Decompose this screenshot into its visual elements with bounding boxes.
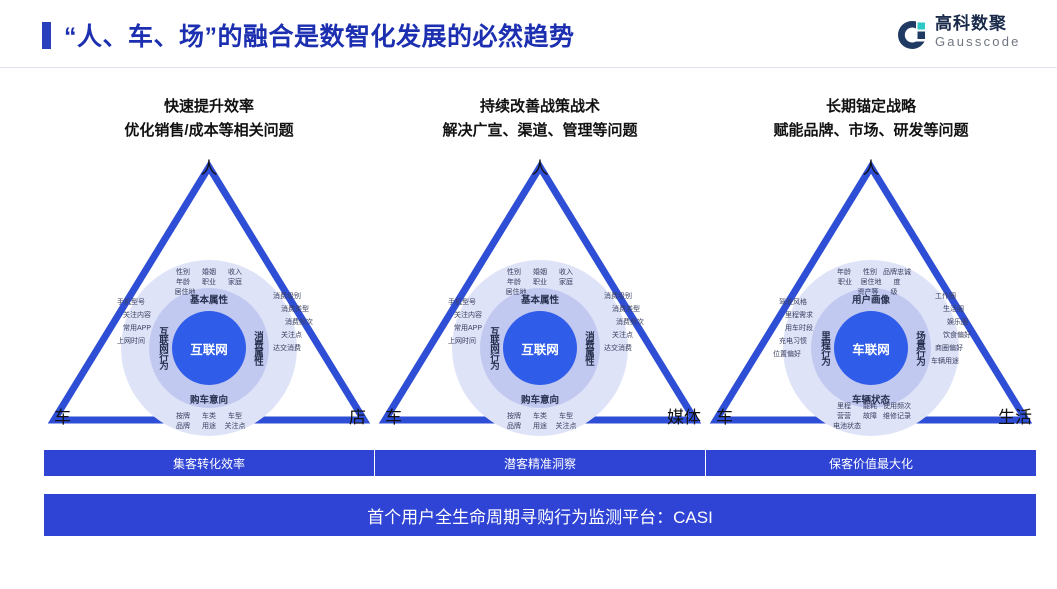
ring-label-bottom-2: 购车意向 bbox=[521, 392, 559, 406]
sat-item: 消费类型 bbox=[281, 303, 313, 316]
ring-label-left-3: 里程行为 bbox=[817, 331, 831, 365]
column-3-heading: 长期锚定战略 赋能品牌、市场、研发等问题 bbox=[706, 95, 1036, 143]
sat-item: 常用APP bbox=[448, 322, 482, 335]
column-1-rings: 互联网 互联网 基本属性 购车意向 互联网行为 消费属性 性别婚姻收入 年龄职业… bbox=[121, 260, 297, 436]
outcome-bar-3: 保客价值最大化 bbox=[706, 450, 1036, 476]
platform-banner: 首个用户全生命周期寻购行为监测平台：CASI bbox=[44, 494, 1036, 536]
triangle-3-right-label: 生活 bbox=[998, 408, 1032, 428]
sat-item: 按牌 bbox=[501, 412, 527, 422]
sat-item: 上网时间 bbox=[448, 335, 476, 348]
satellites-bottom-2: 按牌车类车型 品牌用途关注点 bbox=[501, 412, 579, 432]
gausscode-logo-icon bbox=[895, 18, 929, 52]
triangle-2-left-label: 车 bbox=[385, 408, 402, 428]
sat-item: 婚姻 bbox=[527, 268, 553, 278]
sat-item: 车类 bbox=[196, 412, 222, 422]
sat-item: 车型 bbox=[222, 412, 248, 422]
ring-label-left-2: 互联网行为 bbox=[486, 327, 500, 370]
sat-item: 手机型号 bbox=[448, 296, 476, 309]
sat-item: 消费频次 bbox=[285, 316, 313, 329]
triangle-1-left-label: 车 bbox=[54, 408, 71, 428]
sat-item: 车辆用途 bbox=[931, 355, 971, 368]
core-label-2: 互联网 bbox=[521, 339, 559, 358]
triangle-2-right-label: 媒体 bbox=[667, 408, 701, 428]
sat-item: 性别 bbox=[857, 268, 883, 278]
column-2-heading-line2: 解决广宣、渠道、管理等问题 bbox=[375, 119, 705, 143]
column-3-triangle-block: 人 车 生活 车联网 车联网 用户画像 车辆状态 里程行为 场景行为 年龄性别品… bbox=[706, 157, 1036, 432]
sat-item: 饮食偏好 bbox=[943, 329, 971, 342]
satellites-left-1: 手机型号 关注内容 常用APP 上网时间 bbox=[117, 296, 139, 348]
header-divider bbox=[0, 67, 1057, 68]
sat-item: 品牌忠诚 bbox=[883, 268, 911, 278]
sat-item: 消费级别 bbox=[273, 290, 313, 303]
satellites-left-2: 手机型号 关注内容 常用APP 上网时间 bbox=[448, 296, 470, 348]
sat-item: 居住地 bbox=[172, 288, 198, 298]
sat-item: 消费类型 bbox=[612, 303, 644, 316]
sat-item: 年龄 bbox=[501, 278, 527, 288]
ring-core-3: 车联网 bbox=[834, 311, 908, 385]
sat-item: 婚姻 bbox=[196, 268, 222, 278]
column-2-heading-line1: 持续改善战策战术 bbox=[480, 98, 600, 115]
sat-item: 营营 bbox=[831, 412, 857, 422]
sat-item: 职业 bbox=[832, 278, 858, 288]
core-label-1: 互联网 bbox=[190, 339, 228, 358]
sat-item: 资产等 bbox=[855, 288, 881, 298]
sat-item: 达交消费 bbox=[604, 342, 644, 355]
ring-label-left-1: 互联网行为 bbox=[155, 327, 169, 370]
sat-item: 关注点 bbox=[281, 329, 313, 342]
sat-item: 用途 bbox=[527, 422, 553, 432]
sat-item: 性别 bbox=[170, 268, 196, 278]
sat-item: 关注内容 bbox=[117, 309, 151, 322]
triangle-1-right-label: 店 bbox=[349, 408, 366, 428]
column-3-rings: 车联网 车联网 用户画像 车辆状态 里程行为 场景行为 年龄性别品牌忠诚 职业居… bbox=[783, 260, 959, 436]
ring-label-right-2: 消费属性 bbox=[581, 331, 595, 365]
sat-item: 家庭 bbox=[222, 278, 248, 288]
sat-item: 用车时段 bbox=[773, 322, 813, 335]
slide-root: “人、车、场”的融合是数智化发展的必然趋势 高科数聚 Gausscode 快速提… bbox=[0, 0, 1057, 589]
sat-item: 用途 bbox=[196, 422, 222, 432]
sat-item: 手机型号 bbox=[117, 296, 145, 309]
sat-item: 使用频次 bbox=[883, 402, 911, 412]
sat-item: 生活圈 bbox=[943, 303, 971, 316]
sat-item: 品牌 bbox=[170, 422, 196, 432]
column-2: 持续改善战策战术 解决广宣、渠道、管理等问题 人 车 媒体 互联网 互联网 基本… bbox=[375, 95, 705, 495]
sat-item: 关注点 bbox=[222, 422, 248, 432]
ring-label-right-3: 场景行为 bbox=[912, 331, 926, 365]
slide-header: “人、车、场”的融合是数智化发展的必然趋势 高科数聚 Gausscode bbox=[0, 0, 1057, 68]
column-3: 长期锚定战略 赋能品牌、市场、研发等问题 人 车 生活 车联网 车联网 用户画像… bbox=[706, 95, 1036, 495]
column-2-rings: 互联网 互联网 基本属性 购车意向 互联网行为 消费属性 性别婚姻收入 年龄职业… bbox=[452, 260, 628, 436]
sat-item: 里程需求 bbox=[773, 309, 813, 322]
logo-name-cn: 高科数聚 bbox=[935, 14, 1021, 34]
satellites-top-3: 年龄性别品牌忠诚 职业居住地度 资产等级 bbox=[831, 268, 911, 298]
sat-item: 商圈偏好 bbox=[935, 342, 971, 355]
triangle-1-apex-label: 人 bbox=[201, 159, 218, 179]
sat-item: 能耗 bbox=[857, 402, 883, 412]
sat-item: 上网时间 bbox=[117, 335, 145, 348]
sat-item: 充电习惯 bbox=[773, 335, 807, 348]
sat-item: 故障 bbox=[857, 412, 883, 422]
ring-label-bottom-1: 购车意向 bbox=[190, 392, 228, 406]
sat-item: 职业 bbox=[196, 278, 222, 288]
satellites-right-2: 消费级别 消费类型 消费频次 关注点 达交消费 bbox=[608, 290, 644, 355]
sat-item: 车型 bbox=[553, 412, 579, 422]
logo-text: 高科数聚 Gausscode bbox=[935, 14, 1021, 50]
column-1-heading: 快速提升效率 优化销售/成本等相关问题 bbox=[44, 95, 374, 143]
sat-item: 位置偏好 bbox=[773, 348, 801, 361]
sat-item: 职业 bbox=[527, 278, 553, 288]
outcome-bar-2: 潜客精准洞察 bbox=[375, 450, 705, 476]
sat-item: 达交消费 bbox=[273, 342, 313, 355]
sat-item: 年龄 bbox=[831, 268, 857, 278]
sat-item: 收入 bbox=[553, 268, 579, 278]
sat-item: 居住地 bbox=[503, 288, 529, 298]
sat-item: 关注内容 bbox=[448, 309, 482, 322]
column-1-heading-line1: 快速提升效率 bbox=[164, 98, 254, 115]
sat-item: 维修记录 bbox=[883, 412, 911, 422]
satellites-top-2: 性别婚姻收入 年龄职业家庭 居住地 bbox=[501, 268, 579, 298]
ring-label-right-1: 消费属性 bbox=[250, 331, 264, 365]
sat-item: 车类 bbox=[527, 412, 553, 422]
satellites-bottom-1: 按牌车类车型 品牌用途关注点 bbox=[170, 412, 248, 432]
satellites-top-1: 性别婚姻收入 年龄职业家庭 居住地 bbox=[170, 268, 248, 298]
sat-item: 性别 bbox=[501, 268, 527, 278]
column-1: 快速提升效率 优化销售/成本等相关问题 人 车 店 互联网 互联网 基本属性 购… bbox=[44, 95, 374, 495]
sat-item: 家庭 bbox=[553, 278, 579, 288]
column-1-heading-line2: 优化销售/成本等相关问题 bbox=[44, 119, 374, 143]
column-1-triangle-block: 人 车 店 互联网 互联网 基本属性 购车意向 互联网行为 消费属性 性别婚姻收… bbox=[44, 157, 374, 432]
sat-item: 消费级别 bbox=[604, 290, 644, 303]
column-2-heading: 持续改善战策战术 解决广宣、渠道、管理等问题 bbox=[375, 95, 705, 143]
sat-item: 品牌 bbox=[501, 422, 527, 432]
sat-item: 度 bbox=[884, 278, 910, 288]
triangle-2-apex-label: 人 bbox=[532, 159, 549, 179]
satellites-bottom-3: 里程能耗使用频次 营营故障维修记录 电池状态 bbox=[831, 402, 911, 432]
sat-item: 关注点 bbox=[553, 422, 579, 432]
brand-logo: 高科数聚 Gausscode bbox=[895, 14, 1035, 58]
sat-item: 工作圈 bbox=[935, 290, 971, 303]
sat-item: 收入 bbox=[222, 268, 248, 278]
triangle-3-apex-label: 人 bbox=[863, 159, 880, 179]
ring-core-2: 互联网 bbox=[503, 311, 577, 385]
triangle-3-left-label: 车 bbox=[716, 408, 733, 428]
sat-item: 按牌 bbox=[170, 412, 196, 422]
satellites-left-3: 驾驶风格 里程需求 用车时段 充电习惯 位置偏好 bbox=[773, 296, 801, 361]
sat-item: 居住地 bbox=[858, 278, 884, 288]
column-2-triangle-block: 人 车 媒体 互联网 互联网 基本属性 购车意向 互联网行为 消费属性 性别婚姻… bbox=[375, 157, 705, 432]
sat-item: 年龄 bbox=[170, 278, 196, 288]
sat-item: 电池状态 bbox=[833, 422, 861, 432]
page-title: “人、车、场”的融合是数智化发展的必然趋势 bbox=[64, 17, 575, 53]
ring-core-1: 互联网 bbox=[172, 311, 246, 385]
sat-item: 消费频次 bbox=[616, 316, 644, 329]
satellites-right-3: 工作圈 生活圈 娱乐圈 饮食偏好 商圈偏好 车辆用途 bbox=[939, 290, 971, 368]
logo-name-en: Gausscode bbox=[935, 34, 1021, 50]
column-3-heading-line2: 赋能品牌、市场、研发等问题 bbox=[706, 119, 1036, 143]
sat-item: 常用APP bbox=[117, 322, 151, 335]
outcome-bar-1: 集客转化效率 bbox=[44, 450, 374, 476]
sat-item: 里程 bbox=[831, 402, 857, 412]
sat-item: 驾驶风格 bbox=[773, 296, 807, 309]
core-label-3: 车联网 bbox=[852, 339, 890, 358]
satellites-right-1: 消费级别 消费类型 消费频次 关注点 达交消费 bbox=[277, 290, 313, 355]
sat-item: 娱乐圈 bbox=[947, 316, 971, 329]
sat-item: 级 bbox=[881, 288, 907, 298]
title-bullet-icon bbox=[42, 22, 51, 49]
column-3-heading-line1: 长期锚定战略 bbox=[826, 98, 916, 115]
sat-item: 关注点 bbox=[612, 329, 644, 342]
